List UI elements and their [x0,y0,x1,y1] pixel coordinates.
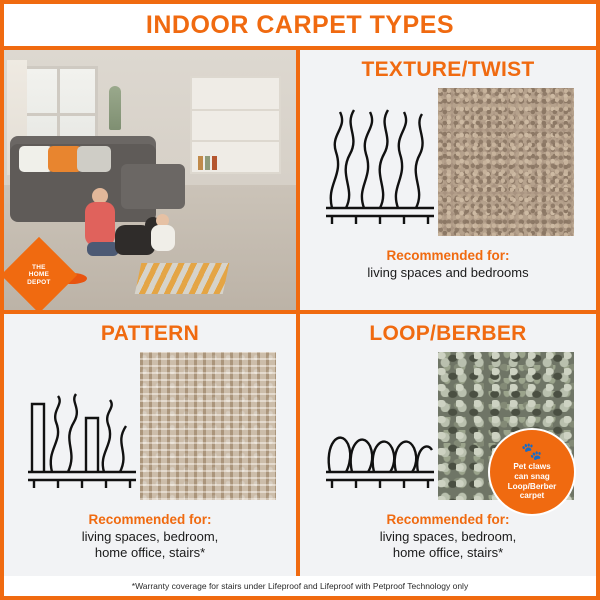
panel-texture-twist: TEXTURE/TWIST [300,50,596,314]
header: INDOOR CARPET TYPES [4,4,596,50]
panel-title-pattern: PATTERN [101,322,199,346]
panel-photo: THE HOME DEPOT [4,50,300,314]
texture-twist-visual [322,88,574,236]
recommendation-label: Recommended for: [386,512,509,527]
texture-twist-carpet-swatch [438,88,574,236]
loop-berber-fiber-diagram [322,352,438,500]
shelf-row [192,140,280,142]
body [85,202,115,246]
recommendation-text-line-1: living spaces, bedroom, [380,529,517,545]
recommendation-text-line-1: living spaces, bedroom, [82,529,219,545]
pet-badge-line-2: can snag [514,472,550,482]
logo-line-2: HOME [27,271,50,278]
pet-badge-line-4: carpet [520,491,545,501]
person-adult [83,188,117,258]
pattern-visual [24,352,276,500]
recommendation-text: living spaces and bedrooms [367,265,528,281]
pattern-fiber-diagram [24,352,140,500]
pet-warning-badge: 🐾 Pet claws can snag Loop/Berber carpet [488,428,576,516]
texture-twist-fiber-diagram [322,88,438,236]
recommendation-label: Recommended for: [88,512,211,527]
person-child [150,214,176,258]
pet-badge-line-3: Loop/Berber [508,482,557,492]
pet-badge-line-1: Pet claws [513,462,550,472]
pillow [77,146,111,172]
ottoman [121,164,185,208]
book [205,156,210,170]
loop-berber-visual: 🐾 Pet claws can snag Loop/Berber carpet [322,352,574,500]
home-depot-logo-text: THE HOME DEPOT [27,264,50,286]
panel-title-loop-berber: LOOP/BERBER [369,322,526,346]
panel-loop-berber: LOOP/BERBER [300,314,596,578]
panel-pattern: PATTERN [4,314,300,578]
living-room-photo: THE HOME DEPOT [4,50,296,310]
area-rug [135,263,229,294]
dog [115,225,155,255]
recommendation-text-line-2: home office, stairs* [393,545,503,561]
book [198,156,203,170]
recommendation-text-line-2: home office, stairs* [95,545,205,561]
panel-title-texture-twist: TEXTURE/TWIST [361,58,534,82]
pattern-carpet-swatch [140,352,276,500]
body [151,225,175,251]
panel-grid: THE HOME DEPOT TEXTURE/TWIST [4,50,596,578]
footnote: *Warranty coverage for stairs under Life… [4,576,596,596]
recommendation-label: Recommended for: [386,248,509,263]
logo-line-3: DEPOT [27,279,50,286]
page-title: INDOOR CARPET TYPES [146,11,454,40]
infographic-root: INDOOR CARPET TYPES [0,0,600,600]
plant [109,86,121,130]
shelf-row [192,109,280,111]
book [212,156,217,170]
bookshelf [190,76,282,174]
paw-icon: 🐾 [521,443,542,460]
